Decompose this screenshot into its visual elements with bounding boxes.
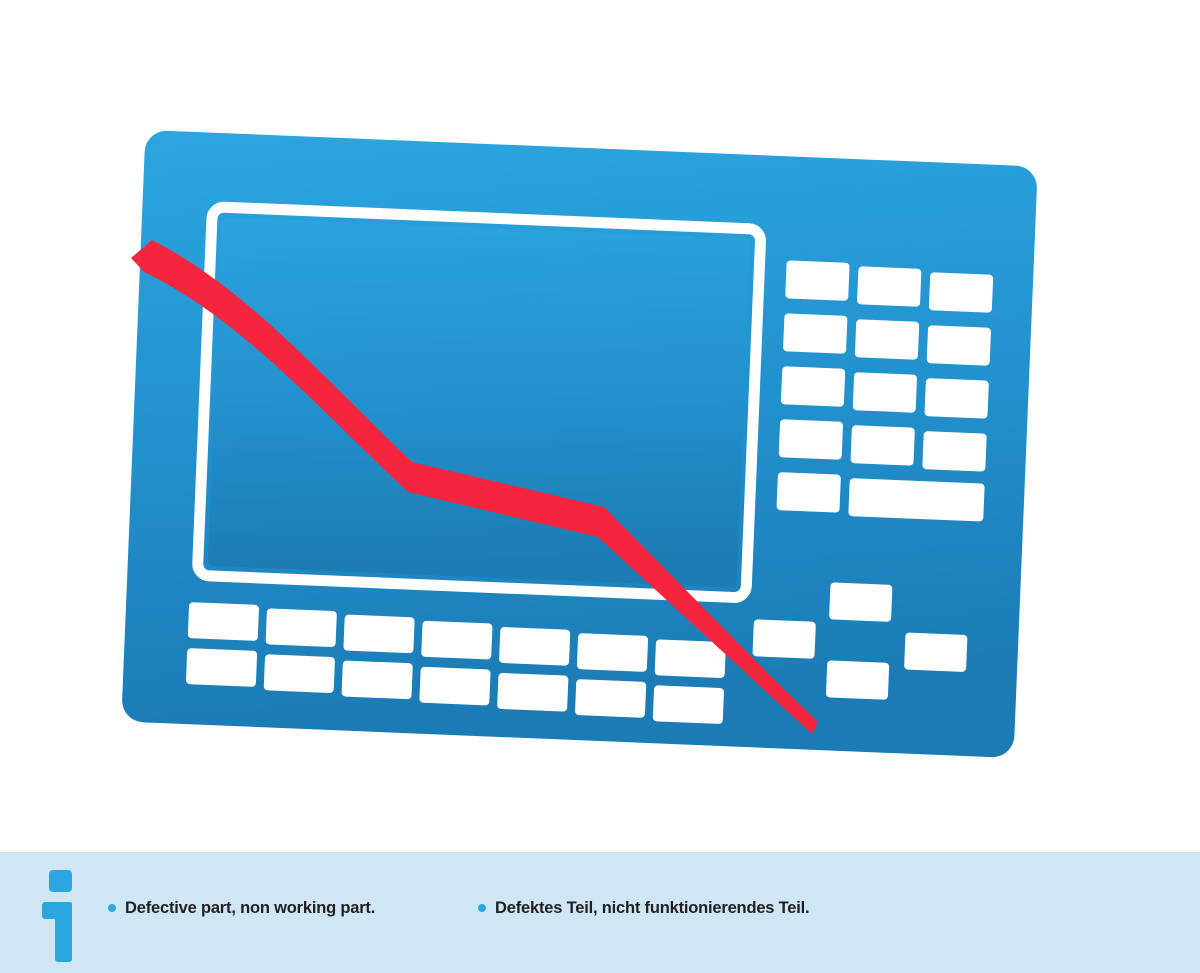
keypad-key[interactable] bbox=[785, 260, 850, 301]
control-panel-body bbox=[121, 130, 1038, 758]
keypad-key-wide[interactable] bbox=[848, 478, 984, 522]
function-key[interactable] bbox=[577, 633, 648, 672]
info-icon-dot bbox=[49, 870, 72, 892]
note-band: Defective part, non working part. Defekt… bbox=[0, 852, 1200, 973]
keypad-key[interactable] bbox=[922, 431, 987, 472]
function-key[interactable] bbox=[343, 614, 414, 653]
function-key[interactable] bbox=[266, 608, 337, 647]
note-text-en: Defective part, non working part. bbox=[125, 900, 375, 917]
keypad-key[interactable] bbox=[850, 425, 915, 466]
function-key[interactable] bbox=[186, 648, 257, 687]
keypad-key[interactable] bbox=[781, 366, 846, 407]
note-list: Defective part, non working part. Defekt… bbox=[108, 900, 1168, 917]
display-screen bbox=[208, 217, 751, 587]
function-key[interactable] bbox=[264, 654, 335, 693]
dpad-left-key[interactable] bbox=[752, 619, 815, 659]
keypad-key[interactable] bbox=[927, 325, 992, 366]
function-key[interactable] bbox=[188, 602, 259, 641]
note-text-de: Defektes Teil, nicht funktionierendes Te… bbox=[495, 900, 809, 917]
keypad-key[interactable] bbox=[855, 319, 920, 360]
keypad-key[interactable] bbox=[857, 266, 922, 307]
dpad-up-key[interactable] bbox=[829, 582, 892, 622]
control-panel-illustration bbox=[0, 0, 1200, 852]
keypad-key[interactable] bbox=[853, 372, 918, 413]
note-item-de: Defektes Teil, nicht funktionierendes Te… bbox=[478, 900, 1078, 917]
illustration-stage bbox=[0, 0, 1200, 852]
info-icon-stem bbox=[55, 902, 72, 962]
keypad-key[interactable] bbox=[779, 419, 844, 460]
function-key[interactable] bbox=[655, 639, 726, 678]
dpad-down-key[interactable] bbox=[826, 660, 889, 700]
function-key[interactable] bbox=[341, 660, 412, 699]
keypad-key[interactable] bbox=[776, 472, 841, 513]
info-icon-foot bbox=[42, 902, 56, 919]
function-key[interactable] bbox=[575, 679, 646, 718]
function-key[interactable] bbox=[497, 673, 568, 712]
keypad-key[interactable] bbox=[924, 378, 989, 419]
info-icon bbox=[38, 870, 78, 962]
function-key[interactable] bbox=[419, 667, 490, 706]
keypad-key[interactable] bbox=[783, 313, 848, 354]
function-key[interactable] bbox=[421, 621, 492, 660]
dpad-right-key[interactable] bbox=[904, 633, 967, 673]
keypad-key[interactable] bbox=[929, 272, 994, 313]
function-key[interactable] bbox=[499, 627, 570, 666]
bullet-icon bbox=[478, 904, 486, 912]
note-item-en: Defective part, non working part. bbox=[108, 900, 478, 917]
bullet-icon bbox=[108, 904, 116, 912]
function-key[interactable] bbox=[653, 685, 724, 724]
